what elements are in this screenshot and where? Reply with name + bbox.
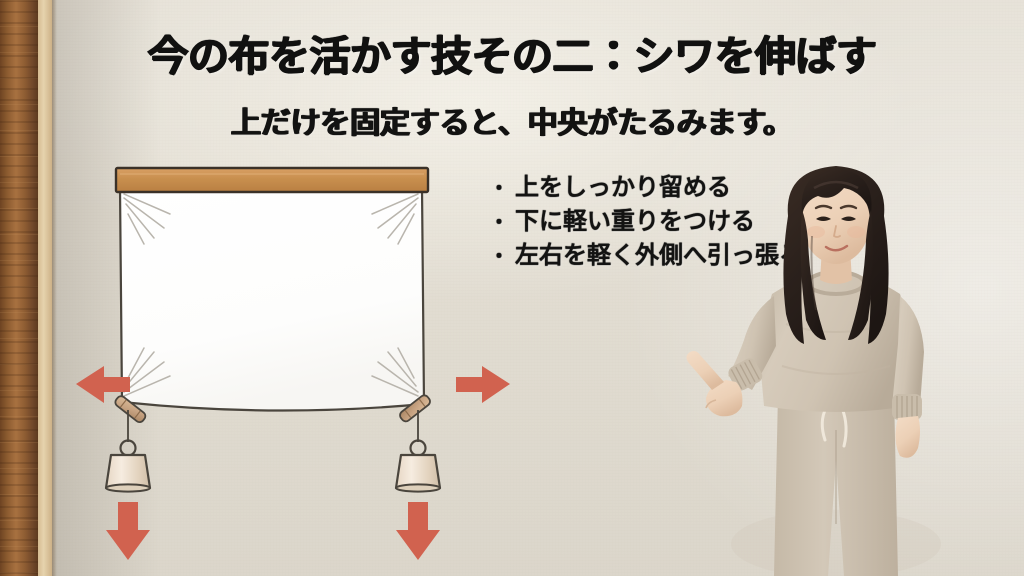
door-frame-edge-shadow [52, 0, 57, 576]
arrow-down-right-icon [396, 502, 440, 560]
right-hand [895, 416, 920, 458]
page-subtitle: 上だけを固定すると、中央がたるみます。 [0, 98, 1024, 142]
arrow-right-icon [456, 366, 510, 403]
presenter-woman [686, 144, 986, 576]
slide-canvas: 今の布を活かす技その二：シワを伸ばす 上だけを固定すると、中央がたるみます。 ・… [0, 0, 1024, 576]
pointing-left-hand [686, 351, 742, 416]
door-frame-reveal [38, 0, 52, 576]
knit-sweater [726, 272, 924, 420]
door-frame-wood [0, 0, 38, 576]
page-title: 今の布を活かす技その二：シワを伸ばす [0, 22, 1024, 82]
wooden-hanging-bar [116, 168, 428, 192]
hanging-weight-right [396, 441, 440, 492]
hanging-cloth-diagram [58, 152, 528, 576]
arrow-down-left-icon [106, 502, 150, 560]
hanging-weight-left [106, 441, 150, 492]
